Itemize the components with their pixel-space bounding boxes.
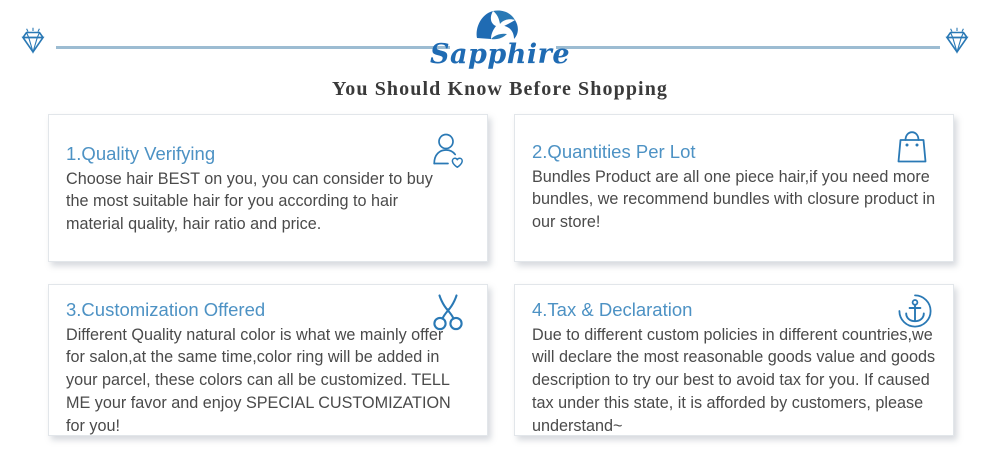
card-text: Due to different custom policies in diff… bbox=[532, 324, 942, 438]
card-text: Choose hair BEST on you, you can conside… bbox=[66, 168, 458, 237]
brand-name: Sapphire bbox=[0, 41, 1000, 68]
scissors-icon bbox=[431, 293, 465, 338]
info-card-customization-offered: 3.Customization Offered Different Qualit… bbox=[48, 284, 488, 436]
page-title: You Should Know Before Shopping bbox=[0, 78, 1000, 101]
info-card-quantities-per-lot: 2.Quantities Per Lot Bundles Product are… bbox=[514, 114, 954, 262]
info-card-quality-verifying: 1.Quality Verifying Choose hair BEST on … bbox=[48, 114, 488, 262]
card-text: Different Quality natural color is what … bbox=[66, 324, 466, 438]
card-title: 1.Quality Verifying bbox=[66, 141, 475, 167]
brand-logo: Sapphire bbox=[0, 8, 1000, 68]
person-heart-icon bbox=[431, 133, 465, 174]
card-title: 2.Quantities Per Lot bbox=[532, 139, 941, 165]
card-text: Bundles Product are all one piece hair,i… bbox=[532, 166, 938, 235]
info-card-grid: 1.Quality Verifying Choose hair BEST on … bbox=[48, 114, 954, 436]
anchor-circle-icon bbox=[897, 293, 933, 336]
info-card-tax-declaration: 4.Tax & Declaration Due to different cus… bbox=[514, 284, 954, 436]
info-banner: Sapphire You Should Know Before Shopping… bbox=[0, 0, 1000, 464]
shopping-bag-icon bbox=[895, 129, 929, 170]
card-title: 4.Tax & Declaration bbox=[532, 297, 941, 323]
card-title: 3.Customization Offered bbox=[66, 297, 475, 323]
banner-header: Sapphire You Should Know Before Shopping bbox=[0, 0, 1000, 72]
